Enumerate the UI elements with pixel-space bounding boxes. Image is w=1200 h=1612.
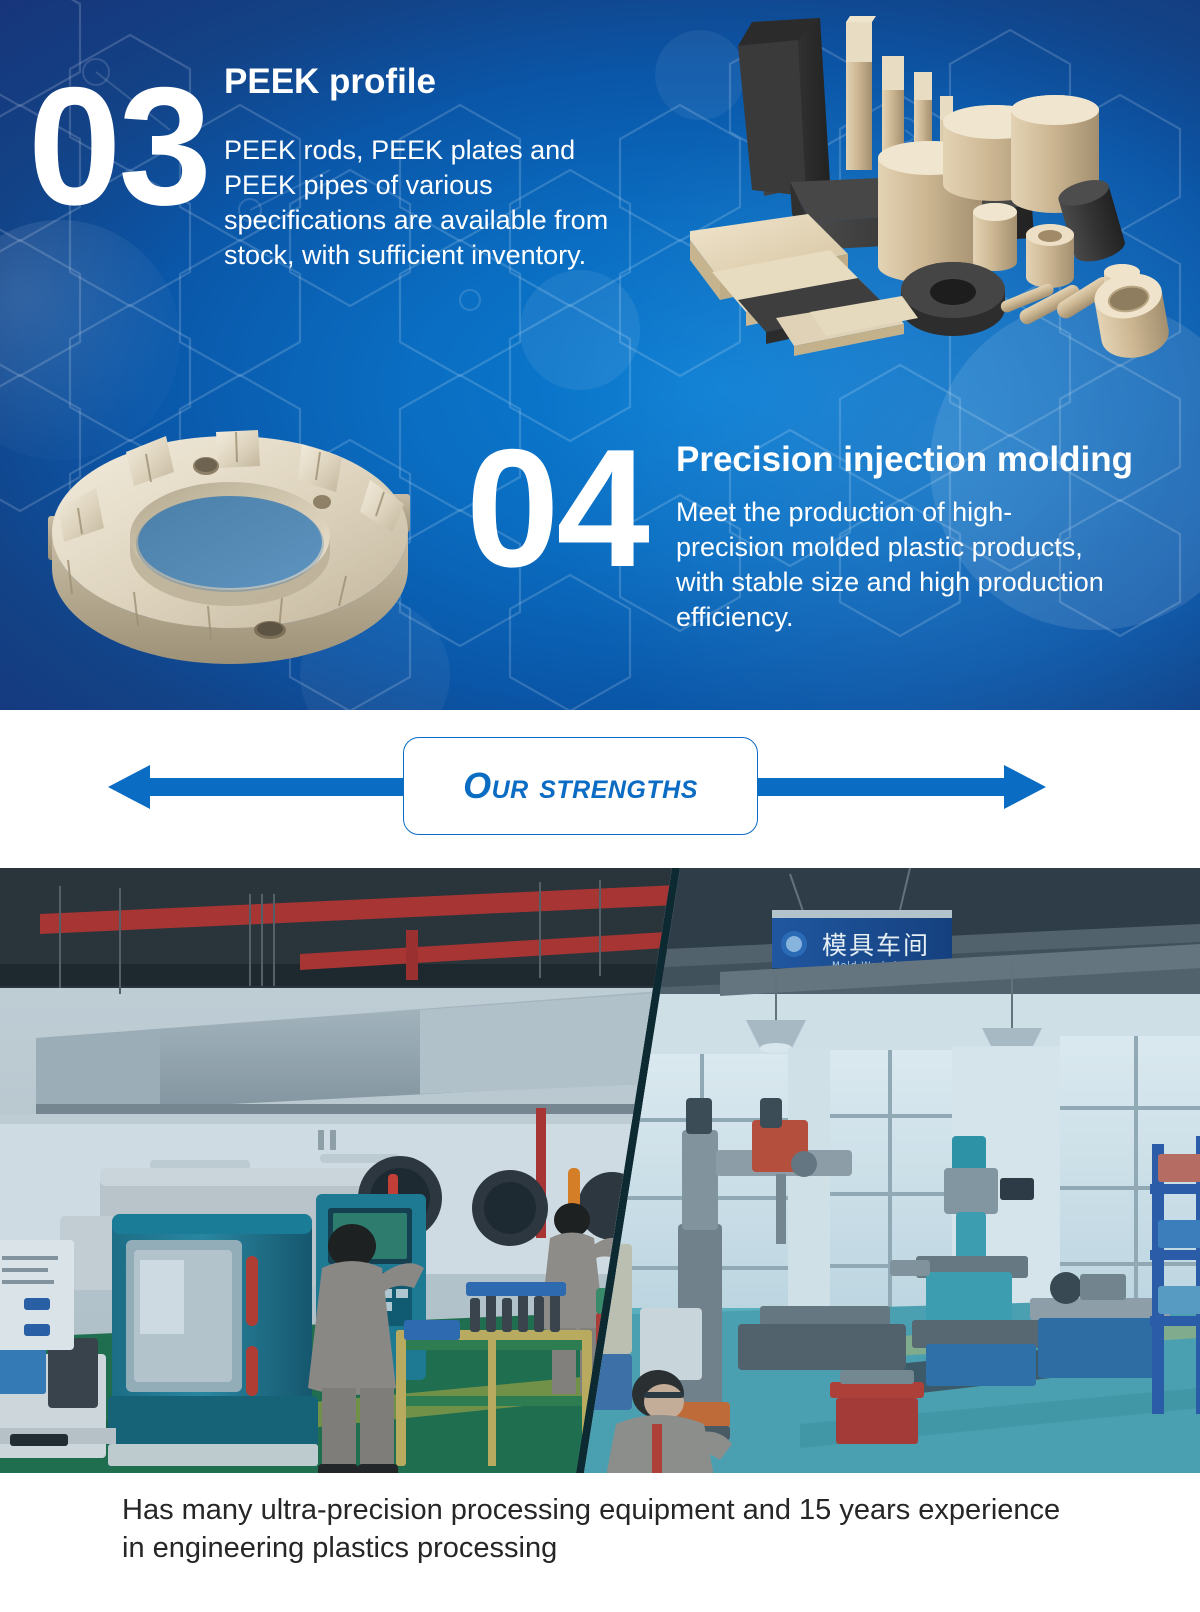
cnc-machining-workshop-photo — [0, 868, 700, 1473]
peek-rods-plates-pipes-photo — [690, 0, 1200, 360]
decorative-bubble — [520, 270, 640, 390]
feature-number-04: 04 — [466, 424, 647, 592]
feature-number-03: 03 — [28, 62, 209, 230]
feature-body-04: Meet the production of high-precision mo… — [676, 495, 1108, 635]
feature-title-03: PEEK profile — [224, 62, 436, 101]
strengths-label: Our strengths — [403, 737, 758, 835]
feature-title-04: Precision injection molding — [676, 440, 1133, 479]
peek-molded-gear-ring-photo — [30, 380, 450, 680]
bottom-caption: Has many ultra-precision processing equi… — [0, 1478, 1200, 1612]
hero-section: 03 PEEK profile PEEK rods, PEEK plates a… — [0, 0, 1200, 710]
feature-body-03: PEEK rods, PEEK plates and PEEK pipes of… — [224, 133, 648, 273]
workshop-photo-band: 模具车间 Mold Workshop — [0, 868, 1200, 1473]
